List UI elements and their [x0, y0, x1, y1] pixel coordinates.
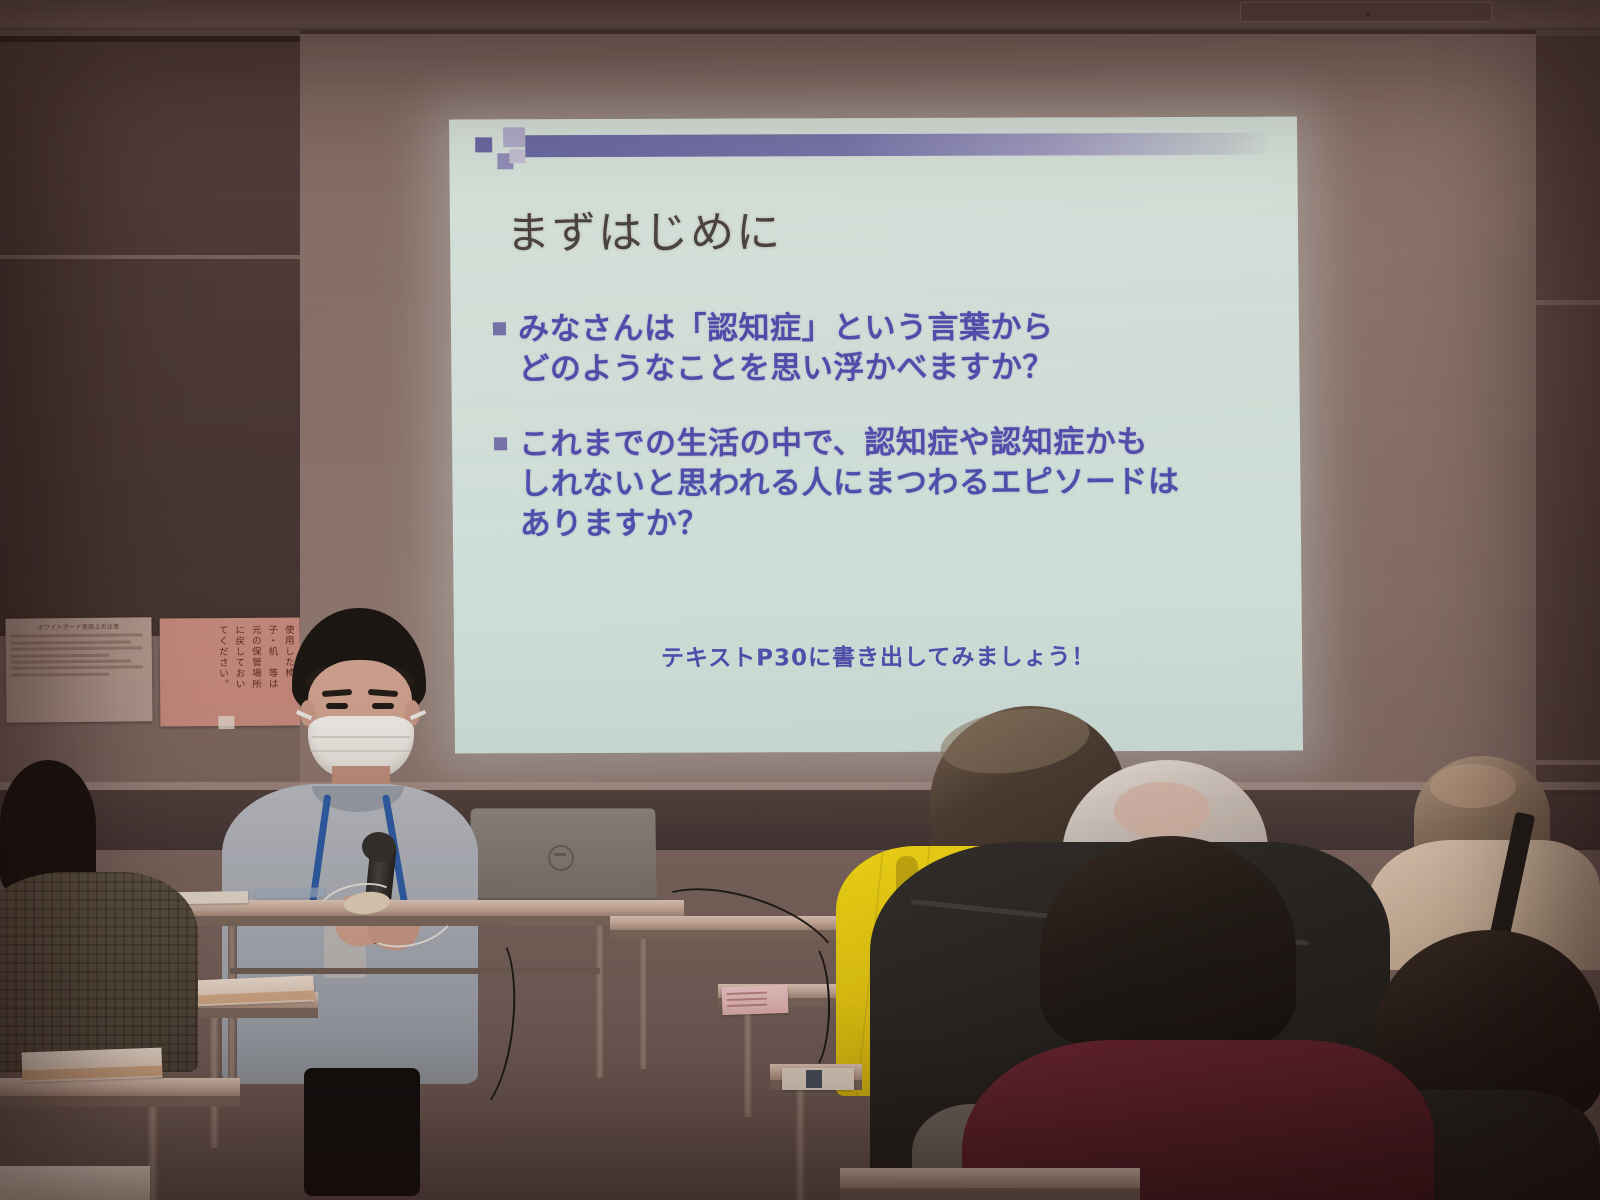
right-shelf-lower: [1530, 760, 1600, 765]
slide-bullet-text: みなさんは「認知症」という言葉から どのようなことを思い浮かべますか？: [518, 307, 1054, 389]
slide-header-bar: [525, 133, 1267, 158]
document-line: [727, 992, 767, 995]
poster-text-line: [11, 647, 143, 651]
presenter-legs: [304, 1068, 420, 1196]
slide-bullet-text: これまでの生活の中で、認知症や認知症かも しれないと思われる人にまつわるエピソー…: [519, 422, 1180, 545]
poster-text-line: [11, 653, 109, 657]
poster-text-line: [11, 640, 131, 644]
hp-logo-icon: [548, 845, 574, 871]
slide-title: まずはじめに: [506, 196, 783, 261]
poster-text-line: [11, 672, 109, 676]
presenter-eye-right: [372, 703, 394, 709]
left-wall-panel: [0, 36, 316, 636]
open-textbook: [22, 1048, 163, 1083]
bullet-square-icon: [494, 437, 507, 450]
paper-foreground-left: [0, 1166, 150, 1200]
table-brace: [230, 968, 600, 974]
tweed-pattern: [0, 872, 198, 1072]
ceiling-vent: [1240, 2, 1492, 22]
document-line: [727, 998, 767, 1001]
table-leg: [640, 939, 648, 1069]
table-leg: [796, 1090, 806, 1200]
open-textbook: [190, 975, 315, 1006]
table-leg: [744, 1007, 753, 1117]
right-wall-panel: [1528, 36, 1600, 796]
left-panel-seam: [0, 255, 316, 259]
document-line: [727, 1004, 767, 1007]
slide-decor-square: [475, 137, 492, 152]
slide-decor-square: [503, 127, 525, 147]
pink-document: [722, 985, 789, 1015]
left-panel-rail: [0, 36, 316, 42]
poster-text-line: [11, 634, 143, 638]
paper-sheet: [255, 887, 325, 898]
slide-bullet-item: みなさんは「認知症」という言葉から どのようなことを思い浮かべますか？: [493, 307, 1284, 390]
power-cable: [786, 940, 830, 1074]
attendee-tweed-body: [0, 872, 198, 1072]
slide-decor-square: [509, 149, 525, 163]
right-shelf-upper: [1530, 300, 1600, 305]
front-table-edge: [0, 1096, 240, 1107]
foreground-table-edge: [840, 1188, 1140, 1200]
mask-fold: [312, 736, 410, 738]
slide-bullet-item: これまでの生活の中で、認知症や認知症かも しれないと思われる人にまつわるエピソー…: [494, 421, 1285, 545]
scalp: [1114, 782, 1210, 838]
mask-fold: [312, 750, 410, 752]
slide-bullet-list: みなさんは「認知症」という言葉から どのようなことを思い浮かべますか？ これまで…: [493, 307, 1286, 579]
table-leg: [596, 926, 605, 1078]
bullet-square-icon: [493, 322, 506, 335]
projected-slide: まずはじめに みなさんは「認知症」という言葉から どのようなことを思い浮かべます…: [449, 117, 1303, 754]
poster-text-line: [11, 659, 131, 663]
slide-footer-text: テキストP30に書き出してみましょう！: [454, 637, 1302, 674]
lecture-room-photo: ホワイトボード使用上の注意 使用した椅 子・机 等は 元の保管場所 に戻しておい…: [0, 0, 1600, 1200]
poster-whiteboard-notice: ホワイトボード使用上の注意: [5, 617, 152, 723]
presenter-eye-left: [326, 703, 348, 709]
poster-whiteboard-title: ホワイトボード使用上の注意: [11, 621, 147, 631]
foreground-table-top: [840, 1168, 1140, 1188]
clipboard: [782, 1068, 854, 1090]
poster-text-line: [11, 666, 143, 670]
